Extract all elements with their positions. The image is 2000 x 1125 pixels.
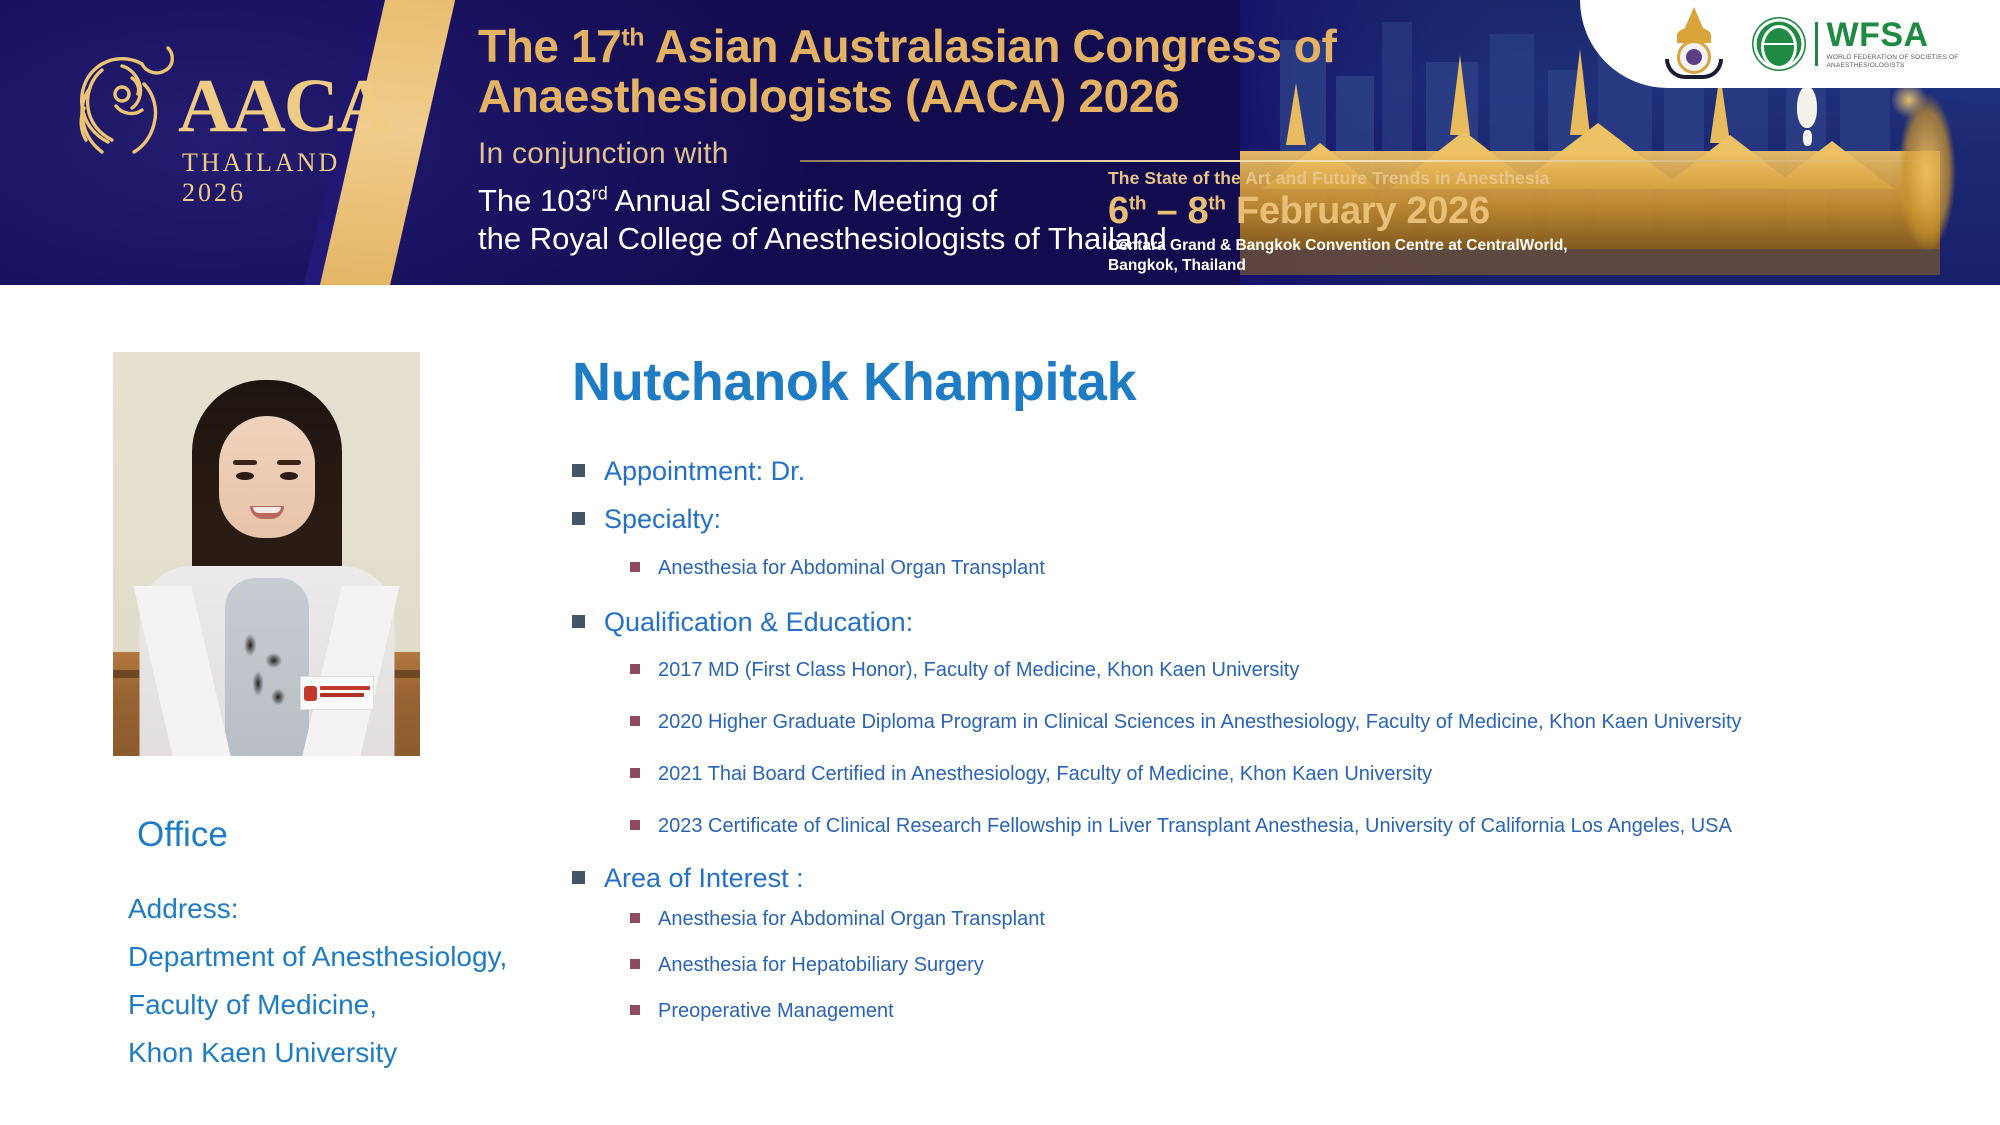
list-item: Anesthesia for Abdominal Organ Transplan… [630,907,1872,931]
detail-area-of-interest: Area of Interest : [572,862,1872,894]
list-item: 2017 MD (First Class Honor), Faculty of … [630,658,1872,682]
detail-appointment: Appointment: Dr. [572,455,1872,487]
bullet-square-small-icon [630,664,640,674]
list-item-text: Anesthesia for Abdominal Organ Transplan… [658,557,1045,579]
wfsa-expansion-line2: ANAESTHESIOLOGISTS [1827,62,1905,69]
banner-venue-line1: Centara Grand & Bangkok Convention Centr… [1108,237,1568,254]
aaca-logo: AACA THAILAND 2026 [60,28,350,238]
name-badge-icon [300,676,374,710]
list-item: Anesthesia for Hepatobiliary Surgery [630,953,1872,977]
aaca-wordmark: AACA [178,68,390,144]
conference-banner: AACA THAILAND 2026 The 17th Asian Austra… [0,0,2000,285]
list-item: 2023 Certificate of Clinical Research Fe… [630,814,1872,838]
organization-logos: WFSA WORLD FEDERATION OF SOCIETIES OF AN… [1580,0,2000,88]
office-address-line1: Department of Anesthesiology, [128,933,588,981]
list-item-text: 2020 Higher Graduate Diploma Program in … [658,711,1742,733]
list-item-text: Anesthesia for Abdominal Organ Transplan… [658,908,1045,930]
banner-date-month-year: February 2026 [1226,190,1490,232]
banner-title: The 17th Asian Australasian Congress of … [478,22,1378,121]
wfsa-expansion-line1: WORLD FEDERATION OF SOCIETIES OF [1827,54,1959,61]
banner-divider-rule [800,160,1940,162]
detail-qualification: Qualification & Education: [572,606,1872,638]
bullet-square-icon [572,615,585,628]
banner-subtitle-ordinal: rd [592,184,608,204]
banner-title-line2: Anaesthesiologists (AACA) 2026 [478,70,1179,122]
detail-qualification-label: Qualification & Education: [604,607,913,637]
office-address: Address: Department of Anesthesiology, F… [128,885,588,1078]
bullet-square-small-icon [630,913,640,923]
area-of-interest-items: Anesthesia for Abdominal Organ Transplan… [572,907,1872,1023]
list-item: Anesthesia for Abdominal Organ Transplan… [630,556,1872,580]
banner-title-line1-pre: The 17 [478,20,621,72]
banner-date-start-ordinal: th [1129,193,1146,214]
banner-date-start: 6 [1108,190,1129,232]
list-item: 2020 Higher Graduate Diploma Program in … [630,710,1872,734]
speaker-name: Nutchanok Khampitak [572,351,1136,413]
banner-date-end-ordinal: th [1208,193,1225,214]
banner-conjunction-label: In conjunction with [478,137,729,171]
detail-specialty: Specialty: [572,503,1872,535]
banner-event-details: The State of the Art and Future Trends i… [1108,168,1628,275]
speaker-details-list: Appointment: Dr. Specialty: Anesthesia f… [572,455,1872,1023]
banner-venue: Centara Grand & Bangkok Convention Centr… [1108,236,1628,276]
globe-icon [1752,17,1806,71]
bullet-square-icon [572,871,585,884]
aaca-tagline: THAILAND 2026 [182,148,350,208]
list-item: 2021 Thai Board Certified in Anesthesiol… [630,762,1872,786]
bullet-square-icon [572,464,585,477]
list-item-text: Anesthesia for Hepatobiliary Surgery [658,954,984,976]
royal-college-emblem-icon [1662,7,1726,81]
wfsa-logo: WFSA WORLD FEDERATION OF SOCIETIES OF AN… [1752,17,1959,71]
banner-dates: 6th – 8th February 2026 [1108,191,1628,233]
bullet-square-small-icon [630,820,640,830]
list-item-text: 2023 Certificate of Clinical Research Fe… [658,815,1732,837]
specialty-items: Anesthesia for Abdominal Organ Transplan… [572,556,1872,580]
office-address-label: Address: [128,885,588,933]
detail-appointment-label: Appointment: Dr. [604,456,805,486]
list-item-text: 2017 MD (First Class Honor), Faculty of … [658,659,1299,681]
detail-specialty-label: Specialty: [604,504,721,534]
office-heading: Office [137,815,228,855]
banner-subtitle-line1-pre: The 103 [478,183,592,218]
bullet-square-small-icon [630,716,640,726]
qualification-items: 2017 MD (First Class Honor), Faculty of … [572,658,1872,838]
banner-title-ordinal: th [621,24,644,52]
office-address-line2: Faculty of Medicine, [128,981,588,1029]
office-address-line3: Khon Kaen University [128,1029,588,1077]
bullet-square-small-icon [630,1005,640,1015]
bullet-square-small-icon [630,562,640,572]
list-item-text: Preoperative Management [658,1000,894,1022]
banner-venue-line2: Bangkok, Thailand [1108,257,1246,274]
banner-theme: The State of the Art and Future Trends i… [1108,168,1628,189]
banner-title-line1-post: Asian Australasian Congress of [644,20,1336,72]
bullet-square-small-icon [630,959,640,969]
banner-subtitle-line1-post: Annual Scientific Meeting of [608,183,997,218]
bullet-square-icon [572,512,585,525]
wfsa-divider [1815,22,1818,66]
speaker-photo [113,352,420,756]
banner-subtitle-line2: the Royal College of Anesthesiologists o… [478,221,1167,256]
wfsa-acronym: WFSA [1827,18,1959,52]
list-item: Preoperative Management [630,999,1872,1023]
list-item-text: 2021 Thai Board Certified in Anesthesiol… [658,763,1432,785]
wfsa-expansion: WORLD FEDERATION OF SOCIETIES OF ANAESTH… [1827,54,1959,70]
bullet-square-small-icon [630,768,640,778]
banner-date-sep: – 8 [1146,190,1208,232]
detail-area-of-interest-label: Area of Interest : [604,863,804,893]
